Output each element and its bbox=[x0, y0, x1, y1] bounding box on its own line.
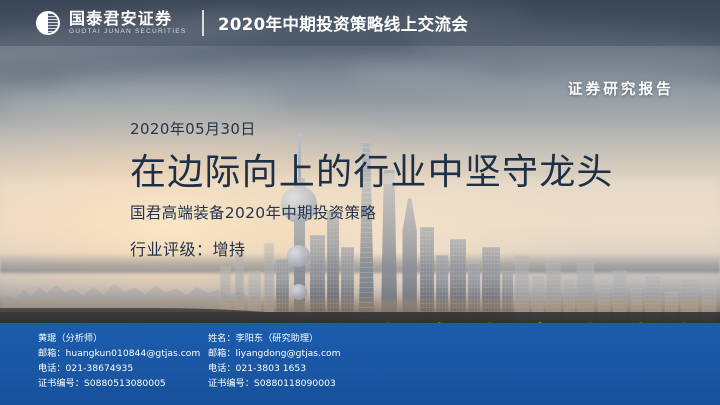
analyst-email: 邮箱：liyangdong@gtjas.com bbox=[208, 347, 428, 362]
publication-date: 2020年05月30日 bbox=[130, 122, 614, 137]
brand-logo-text: 国泰君安证券 GUOTAI JUNAN SECURITIES bbox=[69, 11, 186, 36]
industry-rating: 行业评级：增持 bbox=[130, 242, 614, 258]
main-title: 在边际向上的行业中坚守龙头 bbox=[130, 154, 614, 193]
analyst-phone: 电话：021-3803 1653 bbox=[208, 362, 428, 377]
brand-name-cn: 国泰君安证券 bbox=[69, 11, 186, 27]
analyst-column: 黄琨（分析师） 邮箱：huangkun010844@gtjas.com 电话：0… bbox=[38, 332, 198, 392]
presentation-slide: 国泰君安证券 GUOTAI JUNAN SECURITIES 2020年中期投资… bbox=[0, 0, 720, 405]
slide-header-bar: 国泰君安证券 GUOTAI JUNAN SECURITIES 2020年中期投资… bbox=[0, 0, 720, 46]
brand-name-en: GUOTAI JUNAN SECURITIES bbox=[69, 29, 186, 36]
analyst-footer-band: 黄琨（分析师） 邮箱：huangkun010844@gtjas.com 电话：0… bbox=[0, 323, 720, 405]
guotai-junan-logo-icon bbox=[36, 11, 60, 35]
report-type-label: 证券研究报告 bbox=[568, 78, 674, 99]
header-divider bbox=[202, 10, 204, 36]
analyst-cert: 证书编号：S0880513080005 bbox=[38, 377, 198, 392]
analyst-cert: 证书编号：S0880118090003 bbox=[208, 377, 428, 392]
subtitle: 国君高端装备2020年中期投资策略 bbox=[130, 206, 614, 222]
analyst-phone: 电话：021-38674935 bbox=[38, 362, 198, 377]
event-title: 2020年中期投资策略线上交流会 bbox=[218, 11, 468, 35]
brand-logo: 国泰君安证券 GUOTAI JUNAN SECURITIES bbox=[36, 11, 186, 36]
analyst-name: 姓名：李阳东（研究助理） bbox=[208, 332, 428, 347]
analyst-column: 姓名：李阳东（研究助理） 邮箱：liyangdong@gtjas.com 电话：… bbox=[208, 332, 428, 392]
title-block: 2020年05月30日 在边际向上的行业中坚守龙头 国君高端装备2020年中期投… bbox=[130, 122, 614, 258]
analyst-email: 邮箱：huangkun010844@gtjas.com bbox=[38, 347, 198, 362]
analyst-name: 黄琨（分析师） bbox=[38, 332, 198, 347]
